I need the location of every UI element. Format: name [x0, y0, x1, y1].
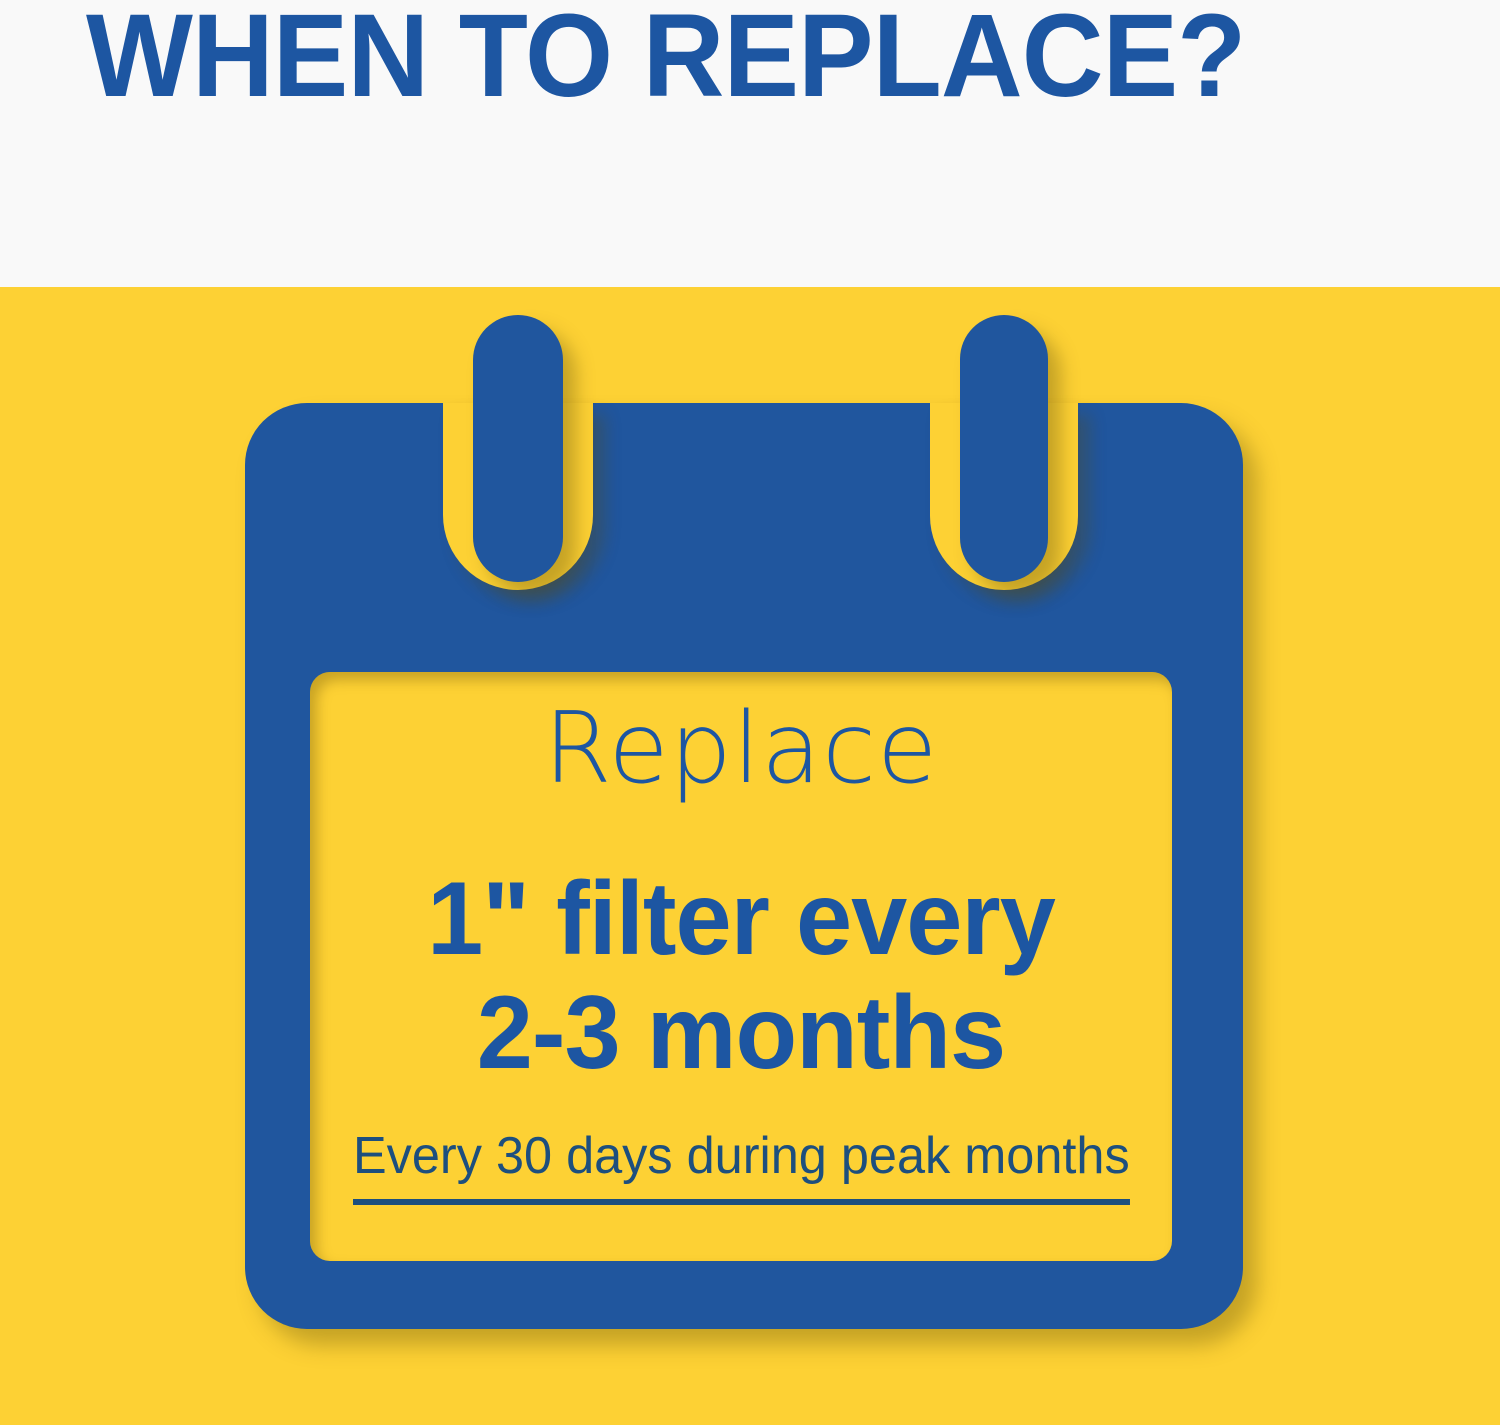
calendar-icon: Replace 1" filter every 2-3 months Every…: [245, 403, 1243, 1329]
peak-months-note: Every 30 days during peak months: [353, 1127, 1130, 1205]
infographic-poster: WHEN TO REPLACE? Replace 1" filter every…: [0, 0, 1500, 1425]
binder-ring-left: [473, 315, 563, 582]
calendar-page: Replace 1" filter every 2-3 months Every…: [310, 672, 1172, 1261]
headline-line-2: 2-3 months: [323, 976, 1159, 1090]
calendar-page-content: Replace 1" filter every 2-3 months Every…: [310, 672, 1172, 1261]
replace-eyebrow: Replace: [310, 700, 1172, 798]
header-band: WHEN TO REPLACE?: [0, 0, 1500, 287]
headline-line-1: 1" filter every: [323, 862, 1159, 976]
page-title: WHEN TO REPLACE?: [86, 0, 1245, 115]
binder-ring-right: [960, 315, 1048, 582]
replacement-interval-headline: 1" filter every 2-3 months: [310, 862, 1172, 1091]
peak-months-note-wrapper: Every 30 days during peak months: [310, 1127, 1172, 1205]
yellow-panel: Replace 1" filter every 2-3 months Every…: [0, 287, 1500, 1425]
